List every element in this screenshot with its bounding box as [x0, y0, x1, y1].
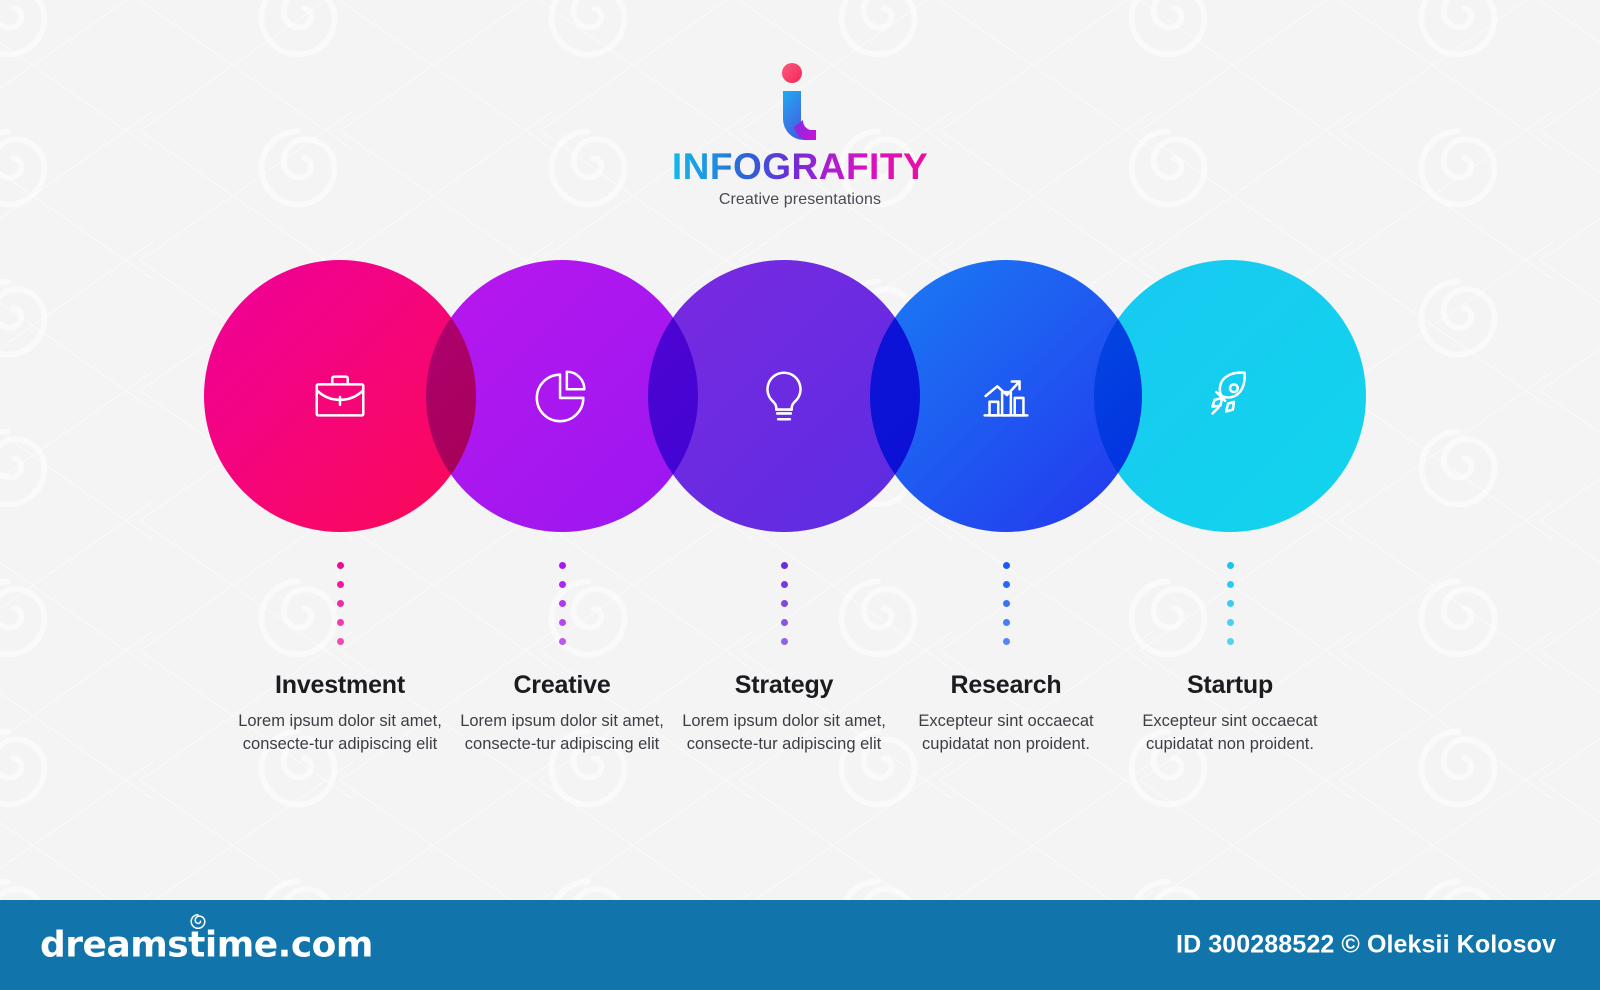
connector-dots-strategy	[779, 562, 789, 645]
watermark-hairline	[1540, 371, 1600, 521]
step-description: Lorem ipsum dolor sit amet, consecte-tur…	[235, 710, 445, 758]
step-title: Investment	[235, 672, 445, 700]
step-label-research: ResearchExcepteur sint occaecat cupidata…	[901, 672, 1111, 757]
connector-dot	[1227, 581, 1234, 588]
connector-dots-startup	[1225, 562, 1235, 645]
connector-dot	[337, 562, 344, 569]
step-label-startup: StartupExcepteur sint occaecat cupidatat…	[1125, 672, 1335, 757]
logo-wordmark: INFOGRAFITY	[672, 148, 928, 185]
watermark-hairline	[340, 761, 554, 911]
dreamstime-footer-bar: dreamstime.com ID 300288522 © Oleksii Ko…	[0, 900, 1600, 990]
connector-dot	[337, 619, 344, 626]
watermark-spiral-icon	[250, 0, 346, 66]
connector-dots-creative	[557, 562, 567, 645]
dreamstime-spiral-icon	[188, 912, 208, 932]
watermark-spiral-icon	[830, 0, 926, 66]
watermark-hairline	[139, 520, 353, 670]
watermark-hairline	[740, 761, 954, 911]
watermark-hairline	[1540, 631, 1600, 781]
step-description: Excepteur sint occaecat cupidatat non pr…	[901, 710, 1111, 758]
connector-dot	[559, 581, 566, 588]
watermark-spiral-icon	[540, 570, 636, 666]
connector-dot	[1003, 562, 1010, 569]
connector-dot	[781, 619, 788, 626]
step-label-creative: CreativeLorem ipsum dolor sit amet, cons…	[457, 672, 667, 757]
watermark-hairline	[1139, 520, 1353, 670]
connector-dot	[337, 638, 344, 645]
connector-dot	[1003, 600, 1010, 607]
watermark-hairline	[339, 520, 553, 670]
watermark-hairline	[0, 241, 154, 391]
watermark-hairline	[1339, 390, 1553, 540]
watermark-hairline	[340, 0, 554, 1]
watermark-hairline	[940, 761, 1154, 911]
connector-dot	[337, 600, 344, 607]
watermark-hairline	[1540, 501, 1600, 651]
watermark-spiral-icon	[0, 270, 56, 366]
connector-dot	[781, 638, 788, 645]
watermark-spiral-icon	[830, 570, 926, 666]
logo-tagline: Creative presentations	[0, 191, 1600, 209]
watermark-spiral-icon	[1120, 0, 1216, 66]
watermark-hairline	[1340, 501, 1554, 651]
watermark-hairline	[1339, 520, 1553, 670]
watermark-hairline	[0, 761, 154, 911]
watermark-spiral-icon	[1410, 420, 1506, 516]
watermark-spiral-icon	[0, 570, 56, 666]
connector-dot	[781, 562, 788, 569]
watermark-hairline	[140, 0, 354, 1]
watermark-hairline	[1140, 761, 1354, 911]
step-label-strategy: StrategyLorem ipsum dolor sit amet, cons…	[679, 672, 889, 757]
connector-dot	[559, 600, 566, 607]
connector-dot	[1227, 638, 1234, 645]
connector-dot	[781, 600, 788, 607]
watermark-hairline	[0, 390, 153, 540]
watermark-hairline	[1539, 390, 1600, 540]
watermark-hairline	[1539, 520, 1600, 670]
step-title: Startup	[1125, 672, 1335, 700]
step-circle-startup[interactable]	[1094, 260, 1366, 532]
watermark-hairline	[1340, 0, 1554, 1]
watermark-hairline	[539, 520, 753, 670]
watermark-spiral-icon	[1410, 720, 1506, 816]
watermark-hairline	[1340, 371, 1554, 521]
brand-logo: INFOGRAFITY Creative presentations	[0, 62, 1600, 209]
watermark-hairline	[1339, 650, 1553, 800]
watermark-hairline	[0, 631, 154, 781]
step-label-investment: InvestmentLorem ipsum dolor sit amet, co…	[235, 672, 445, 757]
connector-dot	[559, 619, 566, 626]
watermark-hairline	[140, 761, 354, 911]
step-description: Excepteur sint occaecat cupidatat non pr…	[1125, 710, 1335, 758]
watermark-hairline	[540, 0, 754, 1]
watermark-hairline	[0, 0, 154, 1]
watermark-hairline	[0, 501, 154, 651]
infographic-canvas: INFOGRAFITY Creative presentations Inves…	[0, 0, 1600, 990]
watermark-hairline	[540, 761, 754, 911]
watermark-hairline	[1339, 260, 1553, 410]
watermark-hairline	[740, 0, 954, 1]
watermark-hairline	[940, 0, 1154, 1]
watermark-spiral-icon	[1410, 0, 1506, 66]
watermark-hairline	[0, 650, 153, 800]
watermark-hairline	[1539, 260, 1600, 410]
step-title: Strategy	[679, 672, 889, 700]
watermark-hairline	[939, 520, 1153, 670]
watermark-hairline	[1540, 0, 1600, 1]
watermark-spiral-icon	[0, 0, 56, 66]
watermark-hairline	[1539, 650, 1600, 800]
step-description: Lorem ipsum dolor sit amet, consecte-tur…	[457, 710, 667, 758]
connector-dot	[337, 581, 344, 588]
watermark-spiral-icon	[1410, 570, 1506, 666]
connector-dot	[1227, 619, 1234, 626]
connector-dots-research	[1001, 562, 1011, 645]
dreamstime-logo: dreamstime.com	[40, 925, 373, 966]
watermark-hairline	[1140, 0, 1354, 1]
watermark-hairline	[1340, 241, 1554, 391]
rocket-icon	[1094, 260, 1366, 532]
watermark-hairline	[1540, 241, 1600, 391]
watermark-spiral-icon	[250, 570, 346, 666]
watermark-hairline	[0, 371, 154, 521]
connector-dot	[781, 581, 788, 588]
watermark-hairline	[0, 520, 153, 670]
connector-dot	[1227, 562, 1234, 569]
watermark-spiral-icon	[1120, 570, 1216, 666]
watermark-spiral-icon	[540, 0, 636, 66]
connector-dot	[1227, 600, 1234, 607]
connector-dot	[1003, 619, 1010, 626]
watermark-spiral-icon	[0, 720, 56, 816]
watermark-spiral-icon	[1410, 270, 1506, 366]
watermark-hairline	[1340, 631, 1554, 781]
step-description: Lorem ipsum dolor sit amet, consecte-tur…	[679, 710, 889, 758]
step-title: Creative	[457, 672, 667, 700]
connector-dot	[1003, 638, 1010, 645]
connector-dot	[559, 638, 566, 645]
infografity-i-mark-icon	[772, 62, 828, 140]
connector-dot	[1003, 581, 1010, 588]
watermark-hairline	[1340, 761, 1554, 911]
connector-dots-investment	[335, 562, 345, 645]
watermark-hairline	[0, 260, 153, 410]
watermark-hairline	[739, 520, 953, 670]
watermark-hairline	[1540, 761, 1600, 911]
connector-dot	[559, 562, 566, 569]
image-id-credit: ID 300288522 © Oleksii Kolosov	[1176, 931, 1556, 960]
watermark-spiral-icon	[0, 420, 56, 516]
step-title: Research	[901, 672, 1111, 700]
